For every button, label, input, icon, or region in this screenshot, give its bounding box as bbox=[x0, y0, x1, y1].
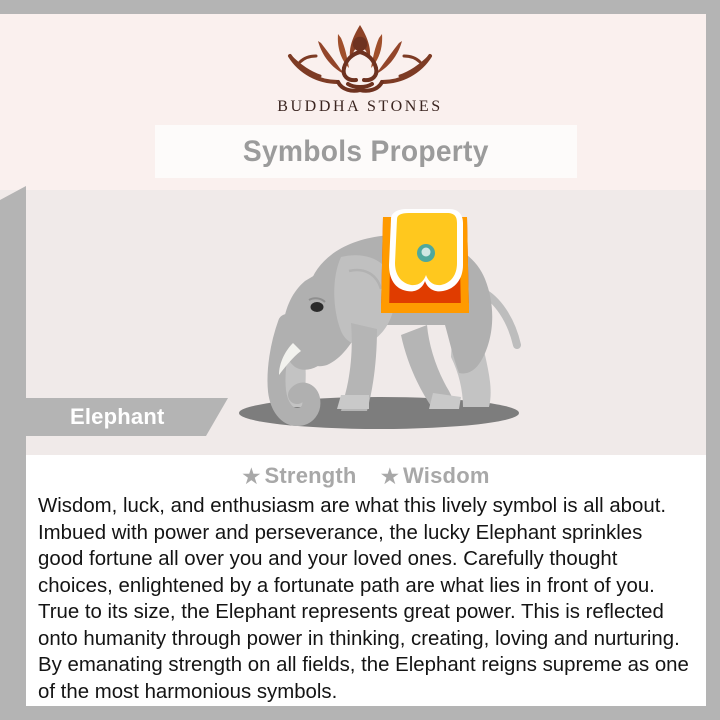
lotus-meditation-figure-icon bbox=[278, 18, 442, 96]
trait-wisdom: ★Wisdom bbox=[381, 463, 490, 489]
star-icon: ★ bbox=[381, 466, 399, 488]
trait-strength: ★Strength bbox=[242, 463, 356, 489]
elephant-eye bbox=[311, 302, 324, 312]
brand-logo: BUDDHA STONES bbox=[0, 18, 720, 116]
symbol-description: Wisdom, luck, and enthusiasm are what th… bbox=[38, 493, 691, 705]
frame-border-right bbox=[706, 0, 720, 720]
elephant-illustration-icon bbox=[201, 195, 531, 435]
trait-wisdom-label: Wisdom bbox=[403, 463, 490, 488]
trait-strength-label: Strength bbox=[265, 463, 357, 488]
page-title: Symbols Property bbox=[243, 135, 489, 169]
symbol-label-ribbon: Elephant bbox=[0, 398, 228, 436]
infographic-card: BUDDHA STONES Symbols Property bbox=[0, 0, 720, 720]
frame-border-left bbox=[0, 186, 26, 720]
frame-border-top bbox=[0, 0, 720, 14]
star-icon: ★ bbox=[242, 466, 260, 488]
description-panel: ★Strength ★Wisdom Wisdom, luck, and enth… bbox=[26, 455, 706, 706]
trait-list: ★Strength ★Wisdom bbox=[26, 463, 706, 489]
brand-name: BUDDHA STONES bbox=[0, 98, 720, 116]
symbol-label: Elephant bbox=[70, 404, 165, 430]
title-band: Symbols Property bbox=[155, 125, 577, 178]
frame-border-bottom bbox=[0, 706, 720, 720]
